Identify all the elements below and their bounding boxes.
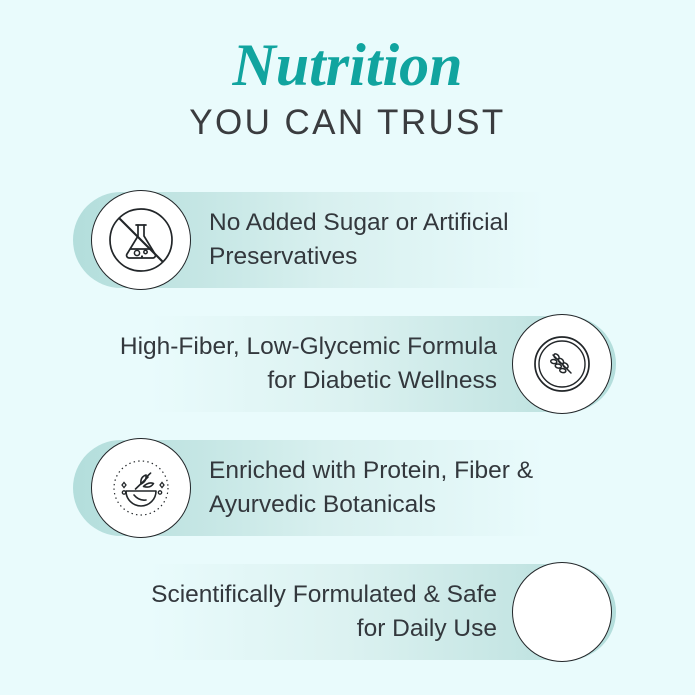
feature-label: Enriched with Protein, Fiber & Ayurvedic… <box>209 454 609 522</box>
no-chemicals-flask-icon <box>91 190 191 290</box>
feature-row-scientifically-formulated: Scientifically Formulated & Safe for Dai… <box>0 564 695 660</box>
page-title: Nutrition <box>0 32 695 98</box>
page-subtitle: YOU CAN TRUST <box>0 102 695 144</box>
wheat-grain-icon <box>512 314 612 414</box>
blank-circle-icon <box>512 562 612 662</box>
feature-list: No Added Sugar or Artificial Preservativ… <box>0 192 695 688</box>
feature-label: Scientifically Formulated & Safe for Dai… <box>60 578 497 646</box>
mortar-pestle-herbs-icon <box>91 438 191 538</box>
infographic-page: Nutrition YOU CAN TRUST <box>0 0 695 695</box>
feature-label: High-Fiber, Low-Glycemic Formula for Dia… <box>60 330 497 398</box>
feature-row-high-fiber: High-Fiber, Low-Glycemic Formula for Dia… <box>0 316 695 412</box>
feature-label: No Added Sugar or Artificial Preservativ… <box>209 206 609 274</box>
feature-row-no-added-sugar: No Added Sugar or Artificial Preservativ… <box>0 192 695 288</box>
header: Nutrition YOU CAN TRUST <box>0 32 695 144</box>
feature-row-enriched-protein: Enriched with Protein, Fiber & Ayurvedic… <box>0 440 695 536</box>
